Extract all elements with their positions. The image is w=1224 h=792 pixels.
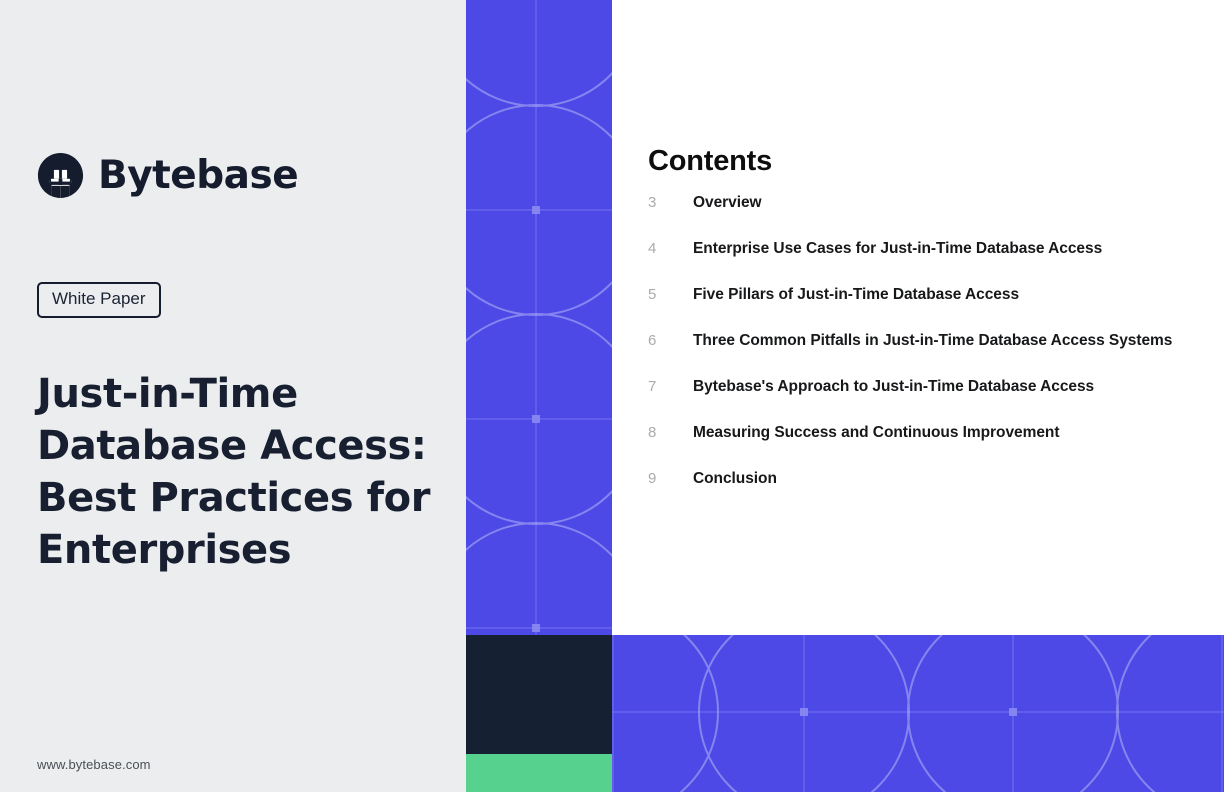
decorative-pattern-band <box>612 635 1224 792</box>
toc-page-number: 6 <box>648 332 693 349</box>
pattern-arcs-vertical <box>466 0 612 635</box>
toc-entry[interactable]: 6 Three Common Pitfalls in Just-in-Time … <box>648 332 1208 378</box>
toc-entry-label: Bytebase's Approach to Just-in-Time Data… <box>693 378 1094 396</box>
accent-block-navy <box>466 635 612 754</box>
cover-title: Just-in-Time Database Access: Best Pract… <box>37 368 437 576</box>
toc-entry-label: Overview <box>693 194 762 212</box>
cover-left-panel: Bytebase White Paper Just-in-Time Databa… <box>0 0 466 792</box>
brand-logo-block: Bytebase <box>37 152 298 199</box>
accent-block-green <box>466 754 612 792</box>
toc-page-number: 8 <box>648 424 693 441</box>
toc-entry[interactable]: 4 Enterprise Use Cases for Just-in-Time … <box>648 240 1208 286</box>
toc-entry[interactable]: 7 Bytebase's Approach to Just-in-Time Da… <box>648 378 1208 424</box>
pattern-arcs-horizontal <box>612 635 1224 792</box>
toc-entry-label: Conclusion <box>693 470 777 488</box>
whitepaper-cover-page: Bytebase White Paper Just-in-Time Databa… <box>0 0 1224 792</box>
toc-entry-label: Five Pillars of Just-in-Time Database Ac… <box>693 286 1019 304</box>
toc-page-number: 9 <box>648 470 693 487</box>
toc-entry-label: Three Common Pitfalls in Just-in-Time Da… <box>693 332 1172 350</box>
toc-page-number: 7 <box>648 378 693 395</box>
toc-page-number: 4 <box>648 240 693 257</box>
decorative-pattern-strip <box>466 0 612 635</box>
bytebase-logo-icon <box>37 152 84 199</box>
brand-wordmark: Bytebase <box>98 156 298 195</box>
toc-entry[interactable]: 3 Overview <box>648 194 1208 240</box>
contents-heading: Contents <box>648 145 772 178</box>
footer-website-url: www.bytebase.com <box>37 757 151 772</box>
toc-page-number: 3 <box>648 194 693 211</box>
toc-page-number: 5 <box>648 286 693 303</box>
toc-entry[interactable]: 5 Five Pillars of Just-in-Time Database … <box>648 286 1208 332</box>
document-type-badge: White Paper <box>37 282 161 318</box>
toc-entry-label: Measuring Success and Continuous Improve… <box>693 424 1059 442</box>
toc-entry-label: Enterprise Use Cases for Just-in-Time Da… <box>693 240 1102 258</box>
toc-entry[interactable]: 9 Conclusion <box>648 470 1208 516</box>
contents-panel: Contents 3 Overview 4 Enterprise Use Cas… <box>612 0 1224 635</box>
toc-entry[interactable]: 8 Measuring Success and Continuous Impro… <box>648 424 1208 470</box>
table-of-contents-list: 3 Overview 4 Enterprise Use Cases for Ju… <box>648 194 1208 516</box>
